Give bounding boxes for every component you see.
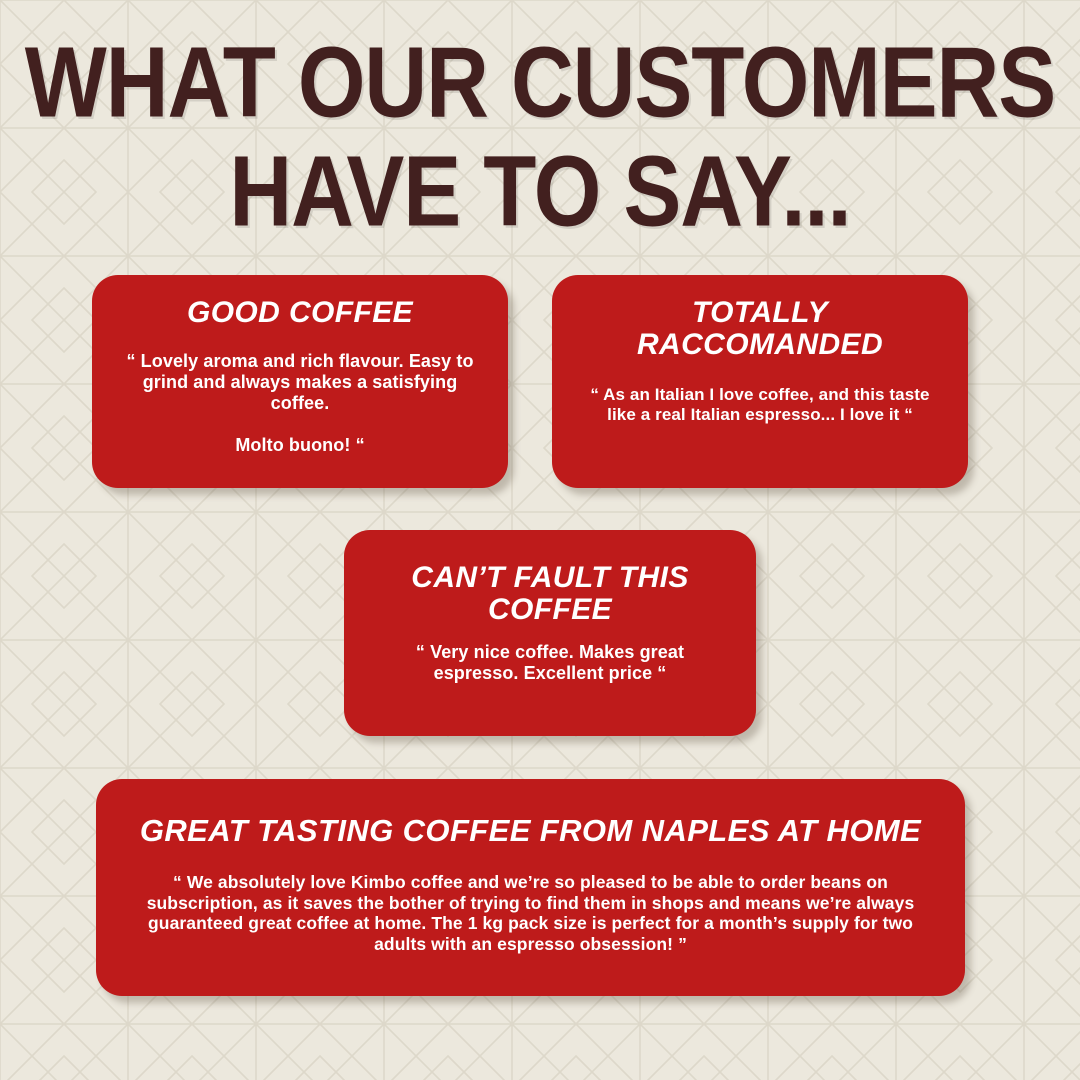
testimonial-card-content: TOTALLY RACCOMANDED “ As an Italian I lo… — [552, 297, 968, 425]
testimonial-card-content: CAN’T FAULT THIS COFFEE “ Very nice coff… — [344, 562, 756, 684]
testimonial-quote: “ Very nice coffee. Makes great espresso… — [362, 642, 738, 684]
testimonial-quote: “ As an Italian I love coffee, and this … — [570, 385, 950, 425]
testimonial-quote-paragraph-1: “ Lovely aroma and rich flavour. Easy to… — [126, 351, 473, 413]
testimonials-poster: WHAT OUR CUSTOMERS HAVE TO SAY... GOOD C… — [0, 0, 1080, 1080]
testimonial-title: GOOD COFFEE — [110, 297, 490, 329]
testimonial-quote-paragraph-1: “ We absolutely love Kimbo coffee and we… — [147, 872, 915, 954]
testimonial-quote-paragraph-2: Molto buono! “ — [118, 435, 482, 456]
testimonial-title: CAN’T FAULT THIS COFFEE — [362, 562, 738, 626]
testimonial-card-content: GOOD COFFEE “ Lovely aroma and rich flav… — [92, 297, 508, 456]
testimonial-card-good-coffee: GOOD COFFEE “ Lovely aroma and rich flav… — [92, 275, 508, 488]
page-title-line-1: WHAT OUR CUSTOMERS — [0, 36, 1080, 132]
testimonial-card-great-tasting-coffee-from-naples-at-home: GREAT TASTING COFFEE FROM NAPLES AT HOME… — [96, 779, 965, 996]
testimonial-title: TOTALLY RACCOMANDED — [570, 297, 950, 361]
testimonial-title: GREAT TASTING COFFEE FROM NAPLES AT HOME — [114, 815, 947, 848]
testimonial-quote: “ Lovely aroma and rich flavour. Easy to… — [110, 351, 490, 457]
page-title: WHAT OUR CUSTOMERS HAVE TO SAY... — [0, 36, 1080, 223]
page-title-line-2: HAVE TO SAY... — [0, 145, 1080, 241]
testimonial-quote-paragraph-1: “ Very nice coffee. Makes great espresso… — [416, 642, 684, 683]
testimonial-card-content: GREAT TASTING COFFEE FROM NAPLES AT HOME… — [96, 815, 965, 954]
testimonial-card-totally-raccomanded: TOTALLY RACCOMANDED “ As an Italian I lo… — [552, 275, 968, 488]
testimonial-card-cant-fault-this-coffee: CAN’T FAULT THIS COFFEE “ Very nice coff… — [344, 530, 756, 736]
testimonial-quote: “ We absolutely love Kimbo coffee and we… — [114, 872, 947, 955]
testimonial-quote-paragraph-1: “ As an Italian I love coffee, and this … — [590, 385, 929, 424]
